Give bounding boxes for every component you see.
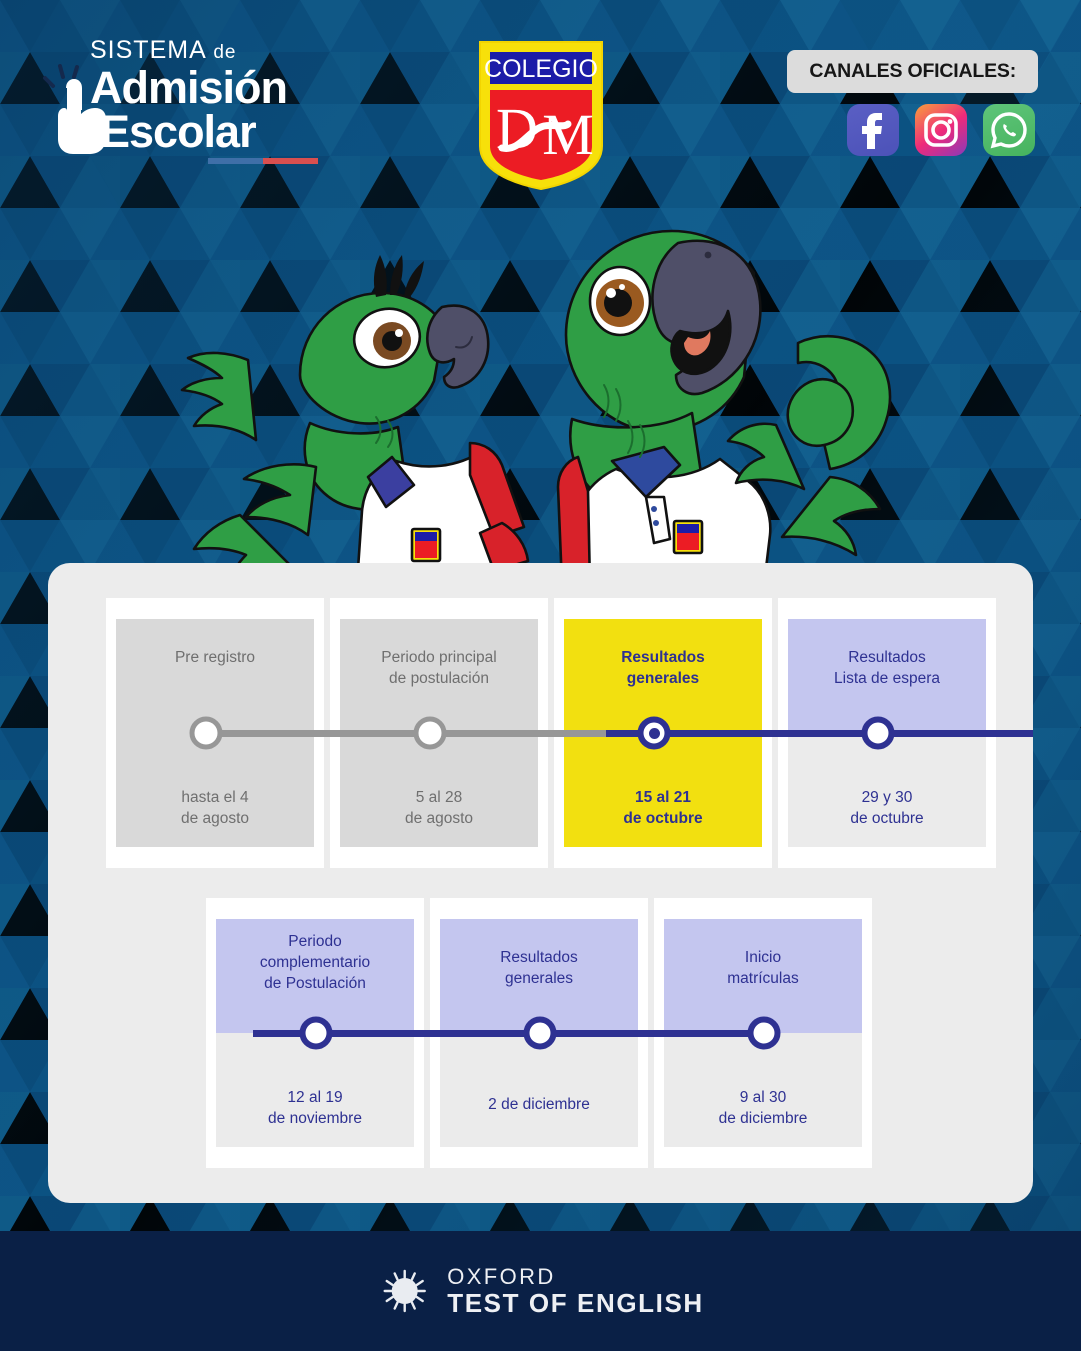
timeline-panel: Pre registro hasta el 4 de agosto Period… bbox=[48, 563, 1033, 1203]
timeline-node-current[interactable] bbox=[638, 717, 671, 750]
card-date-line2: de octubre bbox=[778, 809, 996, 830]
card-title: Periodo principal de postulación bbox=[330, 648, 548, 690]
card-date-line1: 2 de diciembre bbox=[430, 1095, 648, 1116]
card-date: 12 al 19 de noviembre bbox=[206, 1088, 424, 1130]
card-title-line1: Resultados bbox=[554, 648, 772, 669]
sae-sistema-text: SISTEMA bbox=[90, 36, 205, 64]
card-bottom-fill bbox=[440, 1033, 638, 1147]
card-date: 29 y 30 de octubre bbox=[778, 788, 996, 830]
sae-logo-rule bbox=[208, 158, 318, 164]
card-title: Pre registro bbox=[106, 648, 324, 669]
timeline-node-blue[interactable] bbox=[748, 1017, 781, 1050]
school-shield-icon: COLEGIO D M bbox=[476, 38, 606, 193]
card-title-line2: matrículas bbox=[654, 969, 872, 990]
card-date: 5 al 28 de agosto bbox=[330, 788, 548, 830]
card-title-line1: Periodo principal bbox=[330, 648, 548, 669]
card-title-line2: Lista de espera bbox=[778, 669, 996, 690]
card-title: Periodo complementario de Postulación bbox=[206, 932, 424, 995]
card-title-line2: complementario bbox=[206, 953, 424, 974]
facebook-icon[interactable] bbox=[847, 104, 899, 156]
card-title-line2: de postulación bbox=[330, 669, 548, 690]
parrot-mascots-svg bbox=[180, 185, 920, 585]
card-date-line1: 9 al 30 bbox=[654, 1088, 872, 1109]
card-title-line2: generales bbox=[554, 669, 772, 690]
shield-banner-text: COLEGIO bbox=[484, 55, 598, 83]
card-date: 15 al 21 de octubre bbox=[554, 788, 772, 830]
card-date-line2: de agosto bbox=[106, 809, 324, 830]
header: SISTEMA de Admisión Escolar COLEGIO D M … bbox=[0, 0, 1081, 200]
social-links bbox=[847, 104, 1035, 156]
oxford-logo: OXFORD TEST OF ENGLISH bbox=[377, 1264, 704, 1318]
whatsapp-icon[interactable] bbox=[983, 104, 1035, 156]
card-date: hasta el 4 de agosto bbox=[106, 788, 324, 830]
card-top-fill bbox=[116, 619, 314, 733]
shield-letter-m: M bbox=[542, 102, 594, 167]
sae-logo-line1: SISTEMA de bbox=[90, 36, 236, 65]
timeline-node-blue[interactable] bbox=[524, 1017, 557, 1050]
timeline-node-blue[interactable] bbox=[300, 1017, 333, 1050]
card-date-line2: de octubre bbox=[554, 809, 772, 830]
card-date: 9 al 30 de diciembre bbox=[654, 1088, 872, 1130]
card-title-line1: Pre registro bbox=[106, 648, 324, 669]
oxford-sunburst-icon bbox=[377, 1264, 431, 1318]
card-date-line1: 15 al 21 bbox=[554, 788, 772, 809]
mascot-illustration bbox=[180, 185, 920, 585]
sae-de-text: de bbox=[213, 42, 236, 63]
sae-escolar-text: Escolar bbox=[100, 106, 256, 158]
card-date-line2: de agosto bbox=[330, 809, 548, 830]
card-title-line2: generales bbox=[430, 969, 648, 990]
sae-logo: SISTEMA de Admisión Escolar bbox=[48, 36, 348, 156]
card-title-line1: Resultados bbox=[778, 648, 996, 669]
oxford-text: OXFORD TEST OF ENGLISH bbox=[447, 1265, 704, 1317]
timeline-rail-grey-row1 bbox=[206, 730, 606, 737]
card-date: 2 de diciembre bbox=[430, 1095, 648, 1116]
card-date-line1: 29 y 30 bbox=[778, 788, 996, 809]
card-date-line2: de diciembre bbox=[654, 1109, 872, 1130]
card-date-line2: de noviembre bbox=[206, 1109, 424, 1130]
card-date-line1: hasta el 4 bbox=[106, 788, 324, 809]
footer: OXFORD TEST OF ENGLISH bbox=[0, 1231, 1081, 1351]
card-title: Resultados generales bbox=[554, 648, 772, 690]
oxford-line2: TEST OF ENGLISH bbox=[447, 1289, 704, 1317]
channels-label: CANALES OFICIALES: bbox=[787, 50, 1038, 93]
timeline-node-blue[interactable] bbox=[862, 717, 895, 750]
timeline-row-2: Periodo complementario de Postulación 12… bbox=[206, 898, 866, 1168]
card-title: Resultados generales bbox=[430, 948, 648, 990]
instagram-icon[interactable] bbox=[915, 104, 967, 156]
timeline-node-grey[interactable] bbox=[190, 717, 223, 750]
oxford-line1: OXFORD bbox=[447, 1265, 704, 1289]
card-date-line1: 12 al 19 bbox=[206, 1088, 424, 1109]
card-title-line1: Resultados bbox=[430, 948, 648, 969]
timeline-row-1: Pre registro hasta el 4 de agosto Period… bbox=[106, 598, 986, 868]
card-title-line1: Inicio bbox=[654, 948, 872, 969]
pointing-hand-icon bbox=[43, 64, 115, 156]
card-title: Inicio matrículas bbox=[654, 948, 872, 990]
card-title-line3: de Postulación bbox=[206, 974, 424, 995]
card-title-line1: Periodo bbox=[206, 932, 424, 953]
timeline-node-grey[interactable] bbox=[414, 717, 447, 750]
card-title: Resultados Lista de espera bbox=[778, 648, 996, 690]
card-date-line1: 5 al 28 bbox=[330, 788, 548, 809]
